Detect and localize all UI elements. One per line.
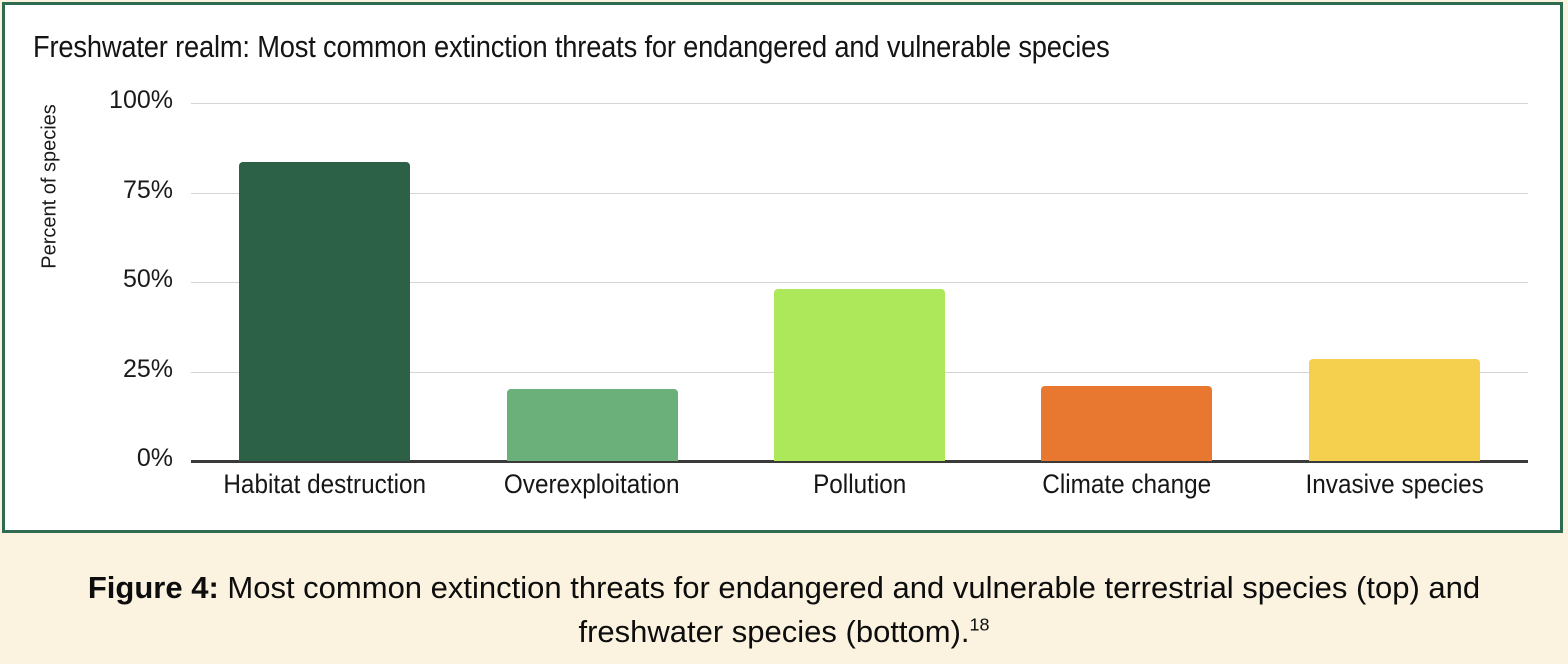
- bar[interactable]: [507, 389, 678, 461]
- bar-group: Pollution: [726, 5, 993, 536]
- y-axis-tick-label: 75%: [73, 176, 173, 205]
- figure-container: Freshwater realm: Most common extinction…: [0, 0, 1568, 664]
- y-axis-tick-label: 25%: [73, 355, 173, 384]
- y-axis-label: Percent of species: [39, 22, 62, 352]
- bar[interactable]: [774, 289, 945, 461]
- x-axis-tick-label: Invasive species: [1274, 469, 1515, 500]
- bar-group: Climate change: [993, 5, 1260, 536]
- figure-caption: Figure 4: Most common extinction threats…: [0, 566, 1568, 654]
- bar[interactable]: [239, 162, 410, 461]
- chart-panel: Freshwater realm: Most common extinction…: [2, 2, 1563, 533]
- y-axis-tick-label: 50%: [73, 265, 173, 294]
- plot-area: Percent of species 0%25%50%75%100% Habit…: [5, 5, 1566, 536]
- x-axis-tick-label: Habitat destruction: [204, 469, 445, 500]
- figure-caption-reference: 18: [970, 615, 990, 635]
- bar-group: Habitat destruction: [191, 5, 458, 536]
- bar-group: Invasive species: [1261, 5, 1528, 536]
- bars-group: Habitat destructionOverexploitationPollu…: [191, 5, 1528, 536]
- x-axis-tick-label: Overexploitation: [472, 469, 713, 500]
- bar[interactable]: [1309, 359, 1480, 461]
- x-axis-tick-label: Pollution: [739, 469, 980, 500]
- bar[interactable]: [1041, 386, 1212, 461]
- y-axis-tick-label: 0%: [73, 444, 173, 473]
- figure-caption-text: Most common extinction threats for endan…: [219, 570, 1480, 649]
- y-axis-tick-label: 100%: [73, 86, 173, 115]
- bar-group: Overexploitation: [458, 5, 725, 536]
- figure-caption-label: Figure 4:: [88, 570, 219, 605]
- x-axis-tick-label: Climate change: [1007, 469, 1248, 500]
